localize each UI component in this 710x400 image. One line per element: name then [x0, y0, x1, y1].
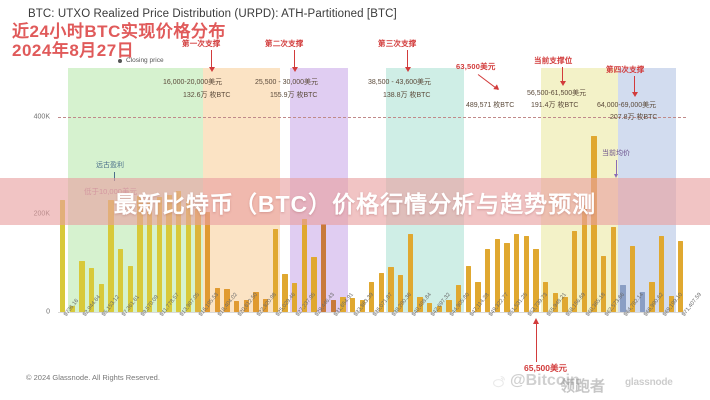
- annotation-support4-title: 第四次支撑: [606, 64, 645, 75]
- annotation-peak-amount: 489,571 枚BTC: [466, 100, 514, 110]
- annotation-support1-arrow-icon: [211, 50, 212, 68]
- y-tick-label-2: 0: [46, 309, 50, 316]
- copyright-text: © 2024 Glassnode. All Rights Reserved.: [26, 373, 160, 382]
- legend-dot-icon: [118, 59, 122, 63]
- annotation-current-range: 56,500-61,500美元: [527, 88, 586, 98]
- bar: [388, 267, 393, 312]
- annotation-support3-amount: 138.8万 枚BTC: [383, 90, 430, 100]
- x-axis: $736.16$2,944.64$5,153.12$7,361.61$9,570…: [58, 314, 686, 360]
- chart-root: BTC: UTXO Realized Price Distribution (U…: [0, 0, 710, 400]
- bar: [79, 261, 84, 312]
- weibo-handle-cn: 领跑者: [560, 375, 605, 396]
- annotation-support1-title: 第一次支撑: [182, 38, 221, 49]
- overlay-banner-text: 最新比特币（BTC）价格行情分析与趋势预测: [0, 178, 710, 225]
- annotation-current-arrow-icon: [562, 67, 563, 82]
- annotation-current-title: 当前支撑位: [534, 55, 573, 66]
- bar: [118, 249, 123, 312]
- annotation-support3-arrow-icon: [407, 50, 408, 68]
- annotation-current-amount: 191.4万 枚BTC: [531, 100, 578, 110]
- bottom-price-pointer-icon: [536, 322, 537, 362]
- bar: [601, 256, 606, 312]
- legend: Closing price: [118, 57, 164, 64]
- annotation-support2-arrow-icon: [294, 50, 295, 68]
- annotation-ancient-profit: 远古盈利: [96, 160, 124, 170]
- annotation-support1-amount: 132.6万 枚BTC: [183, 90, 230, 100]
- bar: [466, 266, 471, 312]
- annotation-support2-range: 25,500 - 30,000美元: [255, 77, 318, 87]
- annotation-current-avg-arrow-icon: [616, 160, 617, 174]
- annotation-peak-title: 63,500美元: [456, 61, 496, 72]
- y-tick-label-0: 400K: [34, 113, 50, 120]
- annotation-support3-range: 38,500 - 43,600美元: [368, 77, 431, 87]
- annotation-support4-amount: 207.8万 枚BTC: [610, 112, 657, 122]
- annotation-support4-arrow-icon: [634, 76, 635, 93]
- bottom-price-arrowhead-icon: [533, 318, 539, 324]
- legend-label-closing-price: Closing price: [126, 57, 164, 64]
- bar: [311, 257, 316, 312]
- chart-title: BTC: UTXO Realized Price Distribution (U…: [28, 8, 397, 20]
- weibo-logo-icon: [492, 375, 507, 388]
- annotation-support2-title: 第二次支撑: [265, 38, 304, 49]
- annotation-support3-title: 第三次支撑: [378, 38, 417, 49]
- annotation-support4-range: 64,000-69,000美元: [597, 100, 656, 110]
- annotation-support1-range: 16,000-20,000美元: [163, 77, 222, 87]
- glassnode-watermark: glassnode: [625, 377, 673, 388]
- annotation-support2-amount: 155.9万 枚BTC: [270, 90, 317, 100]
- annotation-current-avg: 当前均价: [602, 148, 630, 158]
- bar: [485, 249, 490, 312]
